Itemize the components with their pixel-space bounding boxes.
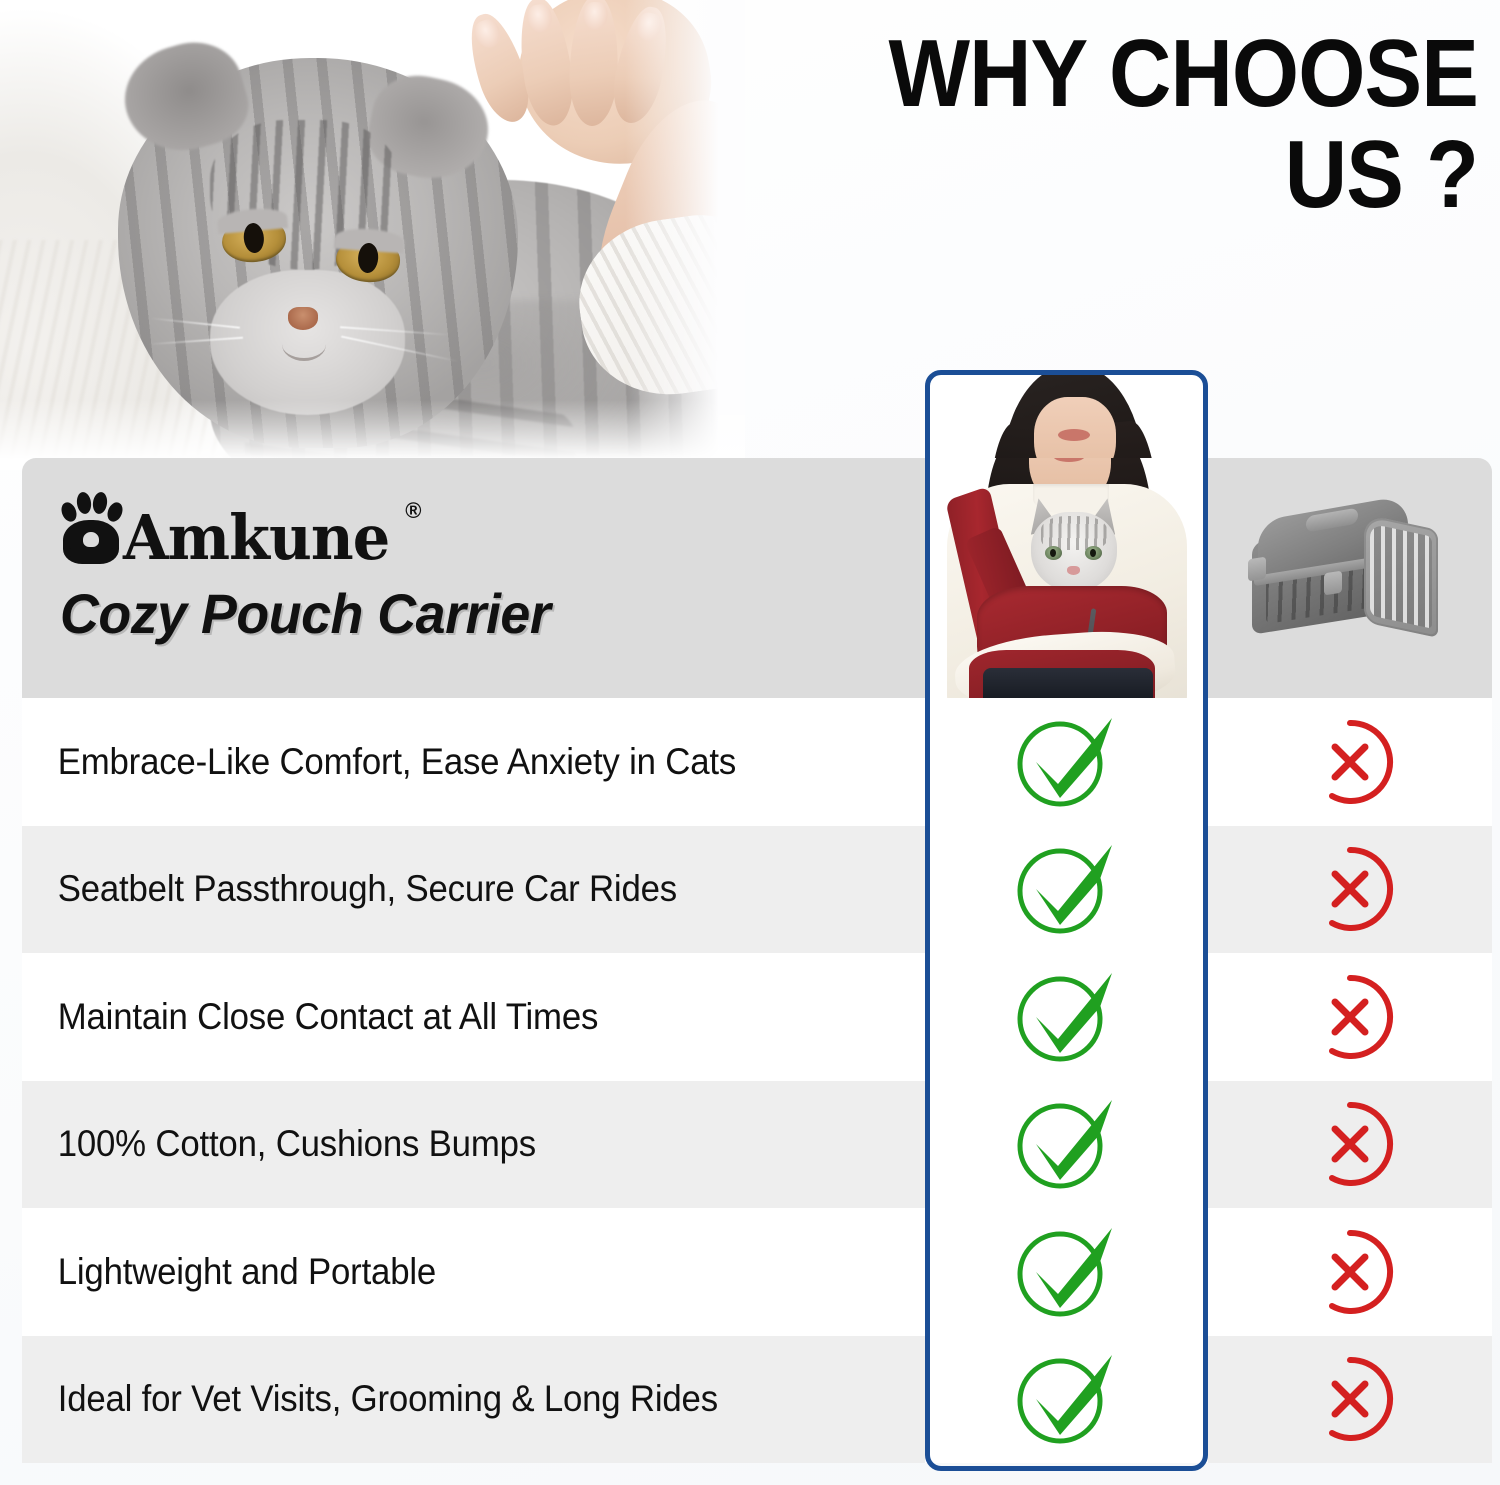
brand-block: Amkune ® Cozy Pouch Carrier <box>60 486 850 642</box>
feature-label: Ideal for Vet Visits, Grooming & Long Ri… <box>22 1378 871 1420</box>
table-row: Ideal for Vet Visits, Grooming & Long Ri… <box>22 1336 1492 1464</box>
ours-cell <box>925 1081 1208 1209</box>
comparison-table: Amkune ® Cozy Pouch Carrier <box>22 458 1492 1463</box>
feature-label: Lightweight and Portable <box>22 1251 871 1293</box>
cross-circle-icon <box>1304 1226 1396 1318</box>
rival-cell <box>1208 826 1492 954</box>
rival-cell <box>1208 698 1492 826</box>
check-circle-icon <box>1008 1349 1126 1449</box>
feature-label: Seatbelt Passthrough, Secure Car Rides <box>22 868 871 910</box>
ours-cell <box>925 826 1208 954</box>
column-header-rival <box>1208 458 1492 698</box>
table-header-row: Amkune ® Cozy Pouch Carrier <box>22 458 1492 698</box>
rival-cell <box>1208 1081 1492 1209</box>
column-header-ours <box>925 458 1208 698</box>
brand-name: Amkune <box>123 513 389 564</box>
cross-circle-icon <box>1304 1353 1396 1445</box>
cross-circle-icon <box>1304 843 1396 935</box>
registered-trademark-icon: ® <box>405 498 421 524</box>
rival-cell <box>1208 1336 1492 1464</box>
check-circle-icon <box>1008 839 1126 939</box>
feature-label: Embrace-Like Comfort, Ease Anxiety in Ca… <box>22 741 871 783</box>
pet-crate-photo <box>1208 458 1492 698</box>
table-row: Lightweight and Portable <box>22 1208 1492 1336</box>
check-circle-icon <box>1008 967 1126 1067</box>
paw-print-icon <box>60 490 122 564</box>
rival-cell <box>1208 953 1492 1081</box>
sling-carrier-photo <box>925 458 1208 698</box>
brand-logo: Amkune ® <box>60 486 850 564</box>
check-circle-icon <box>1008 712 1126 812</box>
table-row: Seatbelt Passthrough, Secure Car Rides <box>22 826 1492 954</box>
ours-cell <box>925 953 1208 1081</box>
check-circle-icon <box>1008 1094 1126 1194</box>
infographic-page: WHY CHOOSE US ? Amkune ® Cozy Pouch Carr… <box>0 0 1500 1485</box>
ours-cell <box>925 1336 1208 1464</box>
cross-circle-icon <box>1304 971 1396 1063</box>
feature-label: 100% Cotton, Cushions Bumps <box>22 1123 871 1165</box>
table-row: Maintain Close Contact at All Times <box>22 953 1492 1081</box>
feature-label: Maintain Close Contact at All Times <box>22 996 871 1038</box>
cross-circle-icon <box>1304 1098 1396 1190</box>
check-circle-icon <box>1008 1222 1126 1322</box>
ours-cell <box>925 698 1208 826</box>
brand-tagline: Cozy Pouch Carrier <box>60 586 818 642</box>
table-row: Embrace-Like Comfort, Ease Anxiety in Ca… <box>22 698 1492 826</box>
cross-circle-icon <box>1304 716 1396 808</box>
hero-cat-photo <box>0 0 745 470</box>
ours-column-photo-top <box>930 375 1203 458</box>
ours-cell <box>925 1208 1208 1336</box>
table-row: 100% Cotton, Cushions Bumps <box>22 1081 1492 1209</box>
rival-cell <box>1208 1208 1492 1336</box>
page-title: WHY CHOOSE US ? <box>776 24 1478 226</box>
